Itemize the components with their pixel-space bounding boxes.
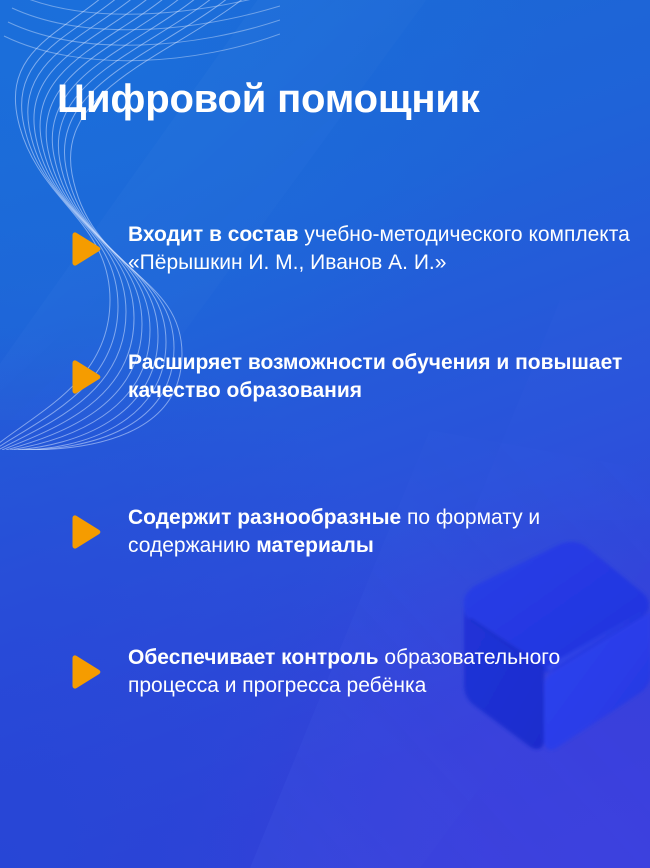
list-item-text: Содержит разнообразные по формату и соде… (66, 504, 648, 560)
list-item: Обеспечивает контроль образовательного п… (0, 612, 650, 732)
list-item-text-bold: Обеспечивает контроль (128, 646, 384, 669)
list-item-text-bold-tail: материалы (256, 534, 374, 557)
list-item: Расширяет возможности обучения и повышае… (0, 302, 650, 452)
list-item: Входит в состав учебно-методического ком… (0, 196, 650, 302)
page-title: Цифровой помощник (57, 77, 480, 121)
list-item: Содержит разнообразные по формату и соде… (0, 452, 650, 612)
promo-slide: Цифровой помощник Входит в состав учебно… (0, 0, 650, 868)
feature-list: Входит в состав учебно-методического ком… (0, 196, 650, 732)
list-item-text-bold: Содержит разнообразные (128, 506, 407, 529)
play-triangle-icon (66, 654, 102, 690)
list-item-text-bold: Расширяет возможности обучения и повышае… (128, 351, 622, 402)
play-triangle-icon (66, 231, 102, 267)
list-item-text: Обеспечивает контроль образовательного п… (66, 644, 648, 700)
list-item-text: Расширяет возможности обучения и повышае… (66, 349, 648, 405)
list-item-text: Входит в состав учебно-методического ком… (66, 221, 648, 277)
play-triangle-icon (66, 359, 102, 395)
play-triangle-icon (66, 514, 102, 550)
list-item-text-bold: Входит в состав (128, 223, 304, 246)
